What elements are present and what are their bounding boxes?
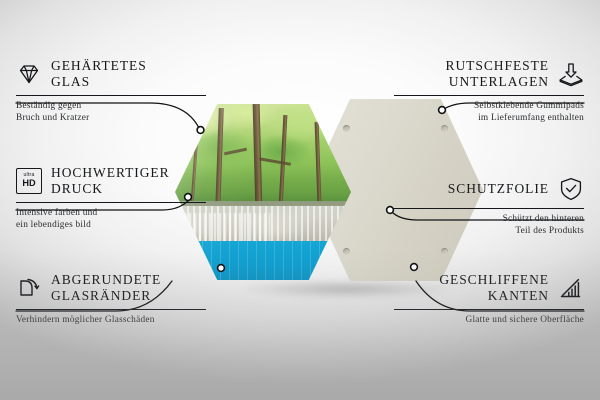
feature-protective-film: SCHUTZFOLIE Schützt den hinteren Teil de… xyxy=(394,176,584,237)
feature-title: ABGERUNDETE GLASRÄNDER xyxy=(51,272,161,303)
divider xyxy=(16,202,206,203)
feature-high-quality-print: ultra HD HOCHWERTIGER DRUCK Intensive fa… xyxy=(16,165,206,231)
mounting-hole-icon xyxy=(343,248,350,255)
feature-tempered-glass: GEHÄRTETES GLAS Beständig gegen Bruch un… xyxy=(16,58,206,124)
feature-title: GEHÄRTETES GLAS xyxy=(51,58,147,89)
mounting-hole-icon xyxy=(343,125,350,132)
divider xyxy=(394,208,584,209)
feature-heading: GESCHLIFFENE KANTEN xyxy=(394,272,584,303)
feature-description: Glatte und sichere Oberfläche xyxy=(394,315,584,327)
shield-check-icon xyxy=(558,176,584,202)
feature-heading: SCHUTZFOLIE xyxy=(394,176,584,202)
divider xyxy=(394,95,584,96)
feature-rounded-glass-edges: ABGERUNDETE GLASRÄNDER Verhindern möglic… xyxy=(16,272,206,327)
feature-heading: GEHÄRTETES GLAS xyxy=(16,58,206,89)
diamond-icon xyxy=(16,61,42,87)
feature-description: Schützt den hinteren Teil des Produkts xyxy=(394,214,584,237)
infographic-canvas: GEHÄRTETES GLAS Beständig gegen Bruch un… xyxy=(0,0,600,400)
feature-heading: ultra HD HOCHWERTIGER DRUCK xyxy=(16,165,206,196)
feature-title: RUTSCHFESTE UNTERLAGEN xyxy=(446,58,549,89)
press-pad-icon xyxy=(558,61,584,87)
ultra-hd-icon: ultra HD xyxy=(16,168,42,194)
feature-description: Selbstklebende Gummipads im Lieferumfang… xyxy=(394,101,584,124)
hatched-triangle-icon xyxy=(558,275,584,301)
feature-description: Beständig gegen Bruch und Kratzer xyxy=(16,101,206,124)
feature-heading: ABGERUNDETE GLASRÄNDER xyxy=(16,272,206,303)
feature-heading: RUTSCHFESTE UNTERLAGEN xyxy=(394,58,584,89)
divider xyxy=(394,309,584,310)
feature-title: GESCHLIFFENE KANTEN xyxy=(439,272,549,303)
divider xyxy=(16,309,206,310)
feature-title: HOCHWERTIGER DRUCK xyxy=(51,165,170,196)
feature-description: Intensive farben und ein lebendiges bild xyxy=(16,208,206,231)
feature-non-slip-pads: RUTSCHFESTE UNTERLAGEN Selbstklebende Gu… xyxy=(394,58,584,124)
feature-polished-edges: GESCHLIFFENE KANTEN Glatte und sichere O… xyxy=(394,272,584,327)
feature-title: SCHUTZFOLIE xyxy=(448,181,549,197)
feature-description: Verhindern möglicher Glasschäden xyxy=(16,315,206,327)
mounting-hole-icon xyxy=(441,248,448,255)
divider xyxy=(16,95,206,96)
mounting-hole-icon xyxy=(441,125,448,132)
rounded-corner-icon xyxy=(16,275,42,301)
